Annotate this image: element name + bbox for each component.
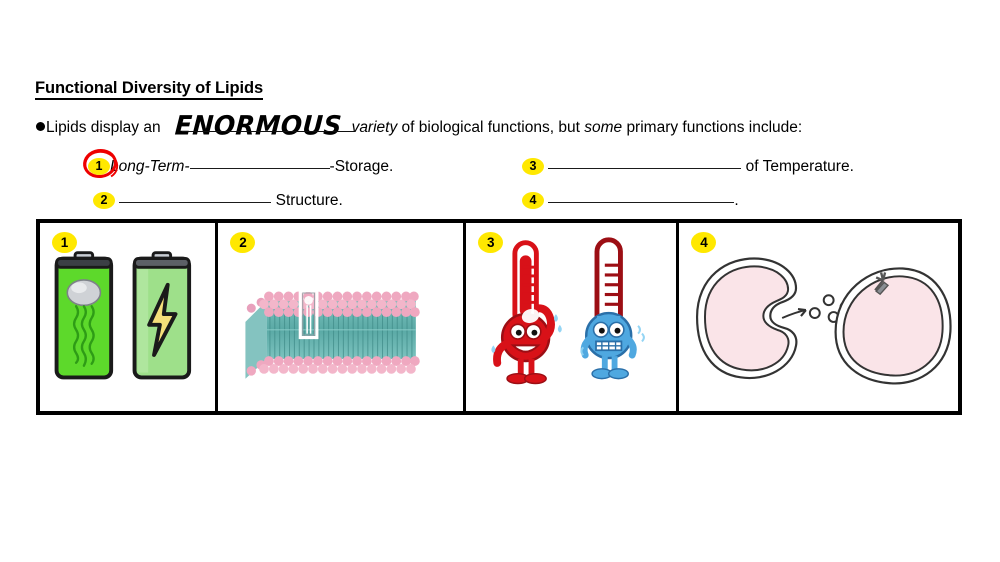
bullet-text-middle: of biological functions, but xyxy=(402,119,580,136)
answer-blank-1[interactable] xyxy=(190,155,330,169)
figure-frame: 1 xyxy=(36,219,962,415)
phospholipid-bilayer-figure xyxy=(218,223,463,411)
cold-thermometer-icon xyxy=(582,240,645,379)
answer-suffix-4: . xyxy=(734,192,738,209)
answer-suffix-2: Structure. xyxy=(271,192,343,209)
phosphate-heads-bottom xyxy=(247,356,420,375)
cell-signaling-figure xyxy=(679,223,958,411)
figure-panel-1: 1 xyxy=(40,223,218,411)
answer-blank-3[interactable] xyxy=(548,155,741,169)
panel-badge-1: 1 xyxy=(52,232,77,253)
secretion-arrow-icon xyxy=(783,309,807,318)
battery-with-fat-molecule-icon xyxy=(57,253,112,378)
receiving-cell-icon xyxy=(836,268,951,383)
figure-panel-4: 4 xyxy=(679,223,958,411)
answer-row-4: 4 . xyxy=(522,189,739,209)
answer-badge-3: 3 xyxy=(522,158,544,175)
answer-row-2: 2 Structure. xyxy=(93,189,343,209)
slide-canvas: Functional Diversity of Lipids Lipids di… xyxy=(0,0,1000,562)
answer-row-1: 1Long-Term--Storage. xyxy=(88,155,393,175)
answer-suffix-1: -Storage. xyxy=(330,158,394,175)
answer-prefix-1: Long-Term- xyxy=(110,158,190,175)
bilayer-slab xyxy=(246,291,420,379)
battery-with-lightning-bolt-icon xyxy=(135,253,190,378)
phosphate-heads-top xyxy=(247,292,420,317)
figure-panel-2: 2 xyxy=(218,223,466,411)
bullet-emphasis-variety: variety xyxy=(352,119,398,136)
answer-suffix-3: of Temperature. xyxy=(741,158,854,175)
bullet-emphasis-some: some xyxy=(584,119,622,136)
temperature-insulation-figure xyxy=(466,223,676,411)
answer-badge-2: 2 xyxy=(93,192,115,209)
bullet-line: Lipids display anENORMOUSvariety of biol… xyxy=(36,113,802,138)
bullet-text-before: Lipids display an xyxy=(46,119,161,136)
bullet-dot-icon xyxy=(36,122,45,131)
answer-blank-4[interactable] xyxy=(548,189,734,203)
bullet-text-after: primary functions include: xyxy=(626,119,802,136)
handwritten-answer: ENORMOUS xyxy=(174,112,343,139)
secreting-cell-icon xyxy=(698,258,797,378)
page-title: Functional Diversity of Lipids xyxy=(35,80,263,100)
figure-panel-3: 3 xyxy=(466,223,679,411)
answer-blank-2[interactable] xyxy=(119,189,271,203)
hot-thermometer-icon xyxy=(492,243,562,384)
answer-row-3: 3 of Temperature. xyxy=(522,155,854,175)
answer-badge-4: 4 xyxy=(522,192,544,209)
handwriting-underline xyxy=(182,131,355,132)
red-circle-annotation-icon xyxy=(81,147,119,180)
